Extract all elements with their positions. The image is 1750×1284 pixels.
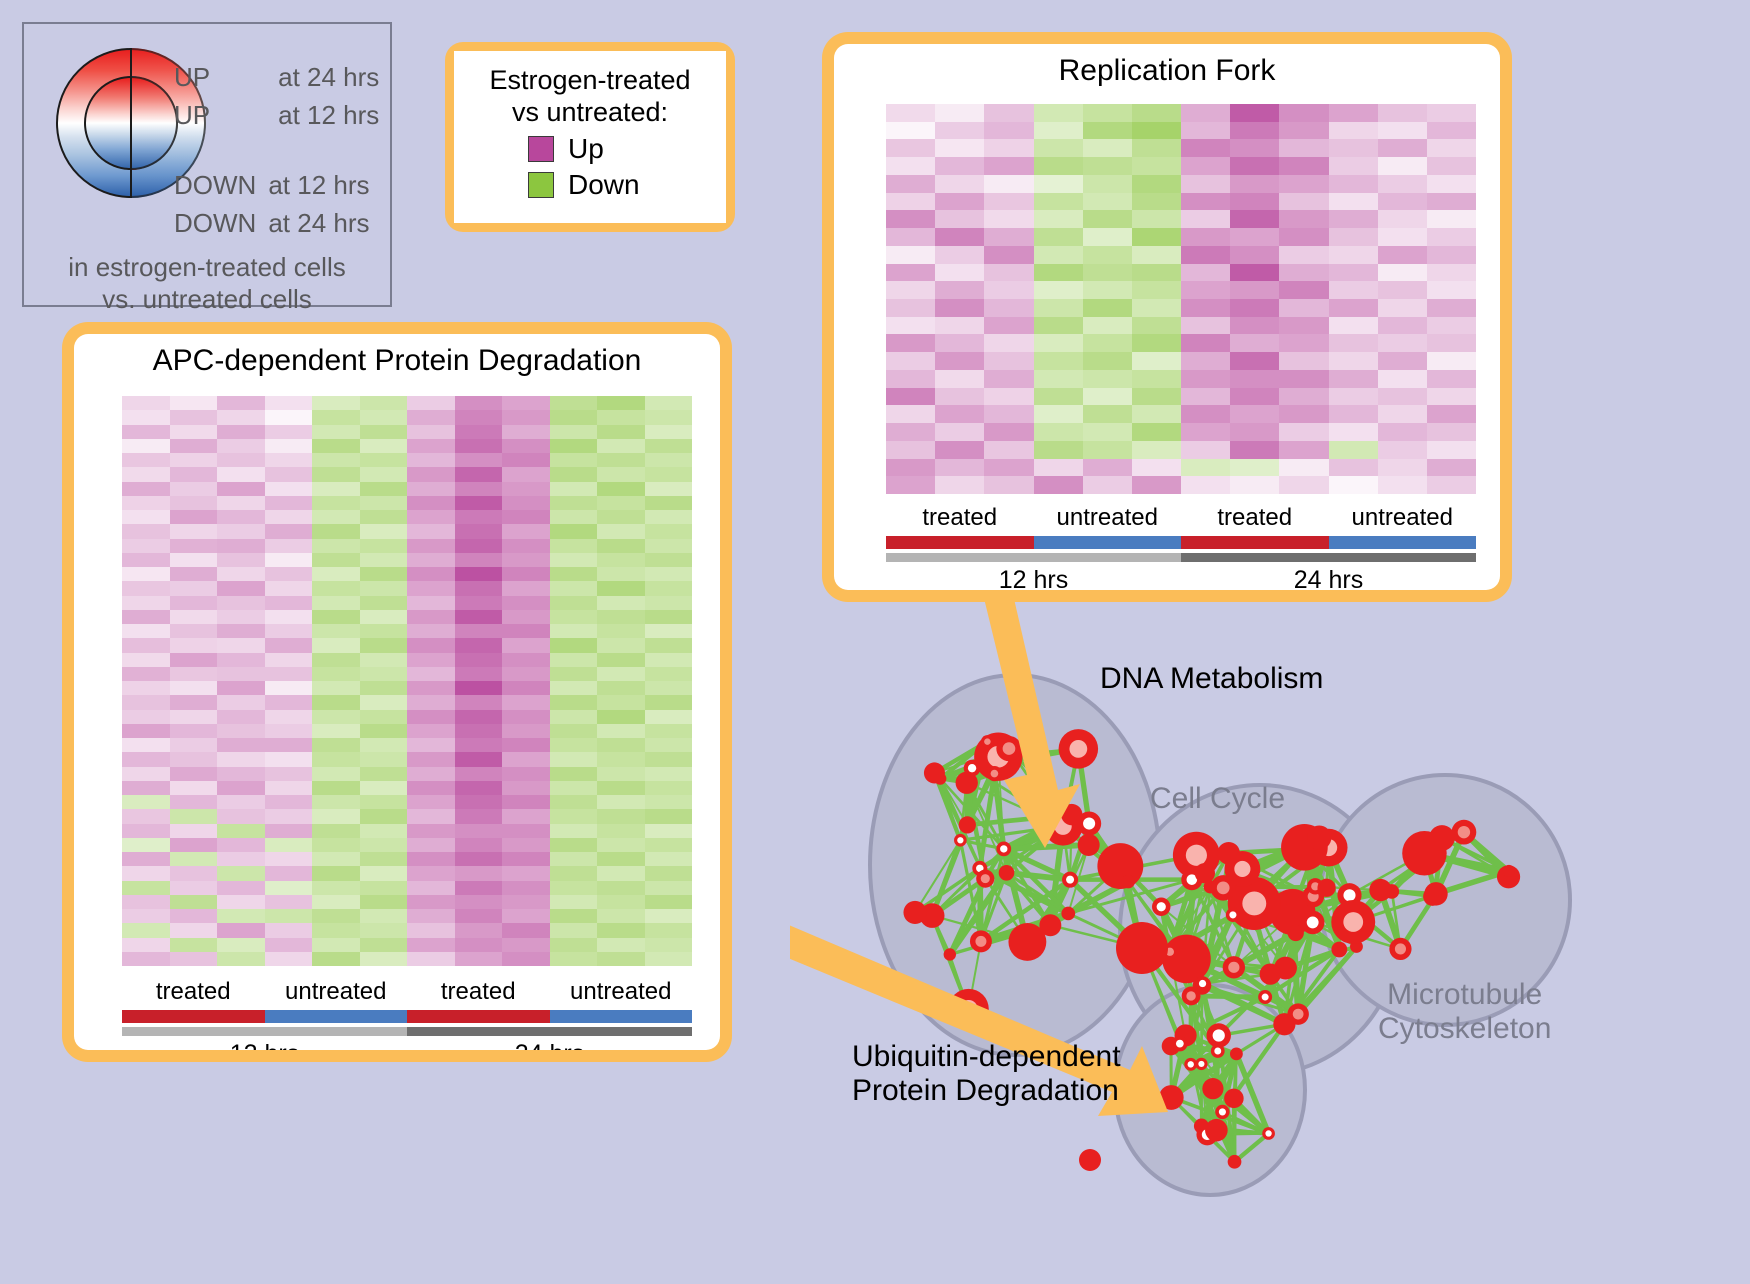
heatmap-cell — [645, 539, 693, 553]
heatmap-cell — [455, 624, 503, 638]
heatmap-cell — [407, 567, 455, 581]
heatmap-cell — [502, 738, 550, 752]
heatmap-cell — [1378, 122, 1427, 140]
network-node[interactable] — [1288, 925, 1304, 941]
heatmap-cell — [597, 809, 645, 823]
network-node[interactable] — [1317, 879, 1335, 897]
heatmap-cell — [597, 952, 645, 966]
heatmap-cell — [360, 781, 408, 795]
network-node[interactable] — [903, 901, 926, 924]
heatmap-cell — [217, 396, 265, 410]
heatmap-cell — [645, 852, 693, 866]
heatmap-cell — [265, 952, 313, 966]
heatmap-cell — [1279, 228, 1328, 246]
heatmap-cell — [1427, 441, 1476, 459]
heatmap-cell — [502, 539, 550, 553]
heatmap-cell — [984, 157, 1033, 175]
heatmap-cell — [645, 624, 693, 638]
heatmap-cell — [984, 388, 1033, 406]
heatmap-cell — [1132, 157, 1181, 175]
heatmap-cell — [1083, 476, 1132, 494]
heatmap-cell — [170, 852, 218, 866]
heatmap-cell — [502, 524, 550, 538]
heatmap-cell — [265, 909, 313, 923]
heatmap-cell — [984, 334, 1033, 352]
heatmap-cell — [1378, 423, 1427, 441]
heatmap-cell — [455, 425, 503, 439]
heatmap-cell — [1279, 193, 1328, 211]
group-bar-segment — [1181, 536, 1329, 549]
heatmap-cell — [597, 795, 645, 809]
network-node-core — [991, 770, 999, 778]
heatmap-cell — [1181, 405, 1230, 423]
heatmap-cell — [217, 809, 265, 823]
heatmap-cell — [935, 423, 984, 441]
heatmap-cell — [1132, 334, 1181, 352]
network-node[interactable] — [1307, 825, 1331, 849]
network-node-core — [1219, 1108, 1226, 1115]
heatmap-cell — [1034, 405, 1083, 423]
heatmap-cell — [407, 809, 455, 823]
heatmap-cell — [1279, 352, 1328, 370]
heatmap-cell — [360, 923, 408, 937]
heatmap-cell — [1279, 370, 1328, 388]
heatmap-cell — [597, 482, 645, 496]
heatmap-cell — [360, 567, 408, 581]
heatmap-cell — [935, 405, 984, 423]
heatmap-cell — [217, 581, 265, 595]
heatmap-cell — [265, 581, 313, 595]
heatmap-cell — [360, 909, 408, 923]
cluster-label-dna-metabolism: DNA Metabolism — [1100, 662, 1323, 696]
heatmap-cell — [935, 299, 984, 317]
heatmap-cell — [645, 938, 693, 952]
network-node[interactable] — [1079, 1149, 1101, 1171]
network-node-core — [1157, 902, 1166, 911]
heatmap-cell — [407, 453, 455, 467]
heatmap-cell — [170, 667, 218, 681]
heatmap-cell — [597, 724, 645, 738]
network-node[interactable] — [1217, 842, 1240, 865]
heatmap-cell — [597, 553, 645, 567]
heatmap-cell — [597, 610, 645, 624]
heatmap-cell — [122, 425, 170, 439]
heatmap-cell — [550, 695, 598, 709]
heatmap-cell — [984, 264, 1033, 282]
heatmap-cell — [1083, 210, 1132, 228]
heatmap-cell — [312, 795, 360, 809]
heatmap-cell — [1132, 423, 1181, 441]
network-node[interactable] — [1228, 1155, 1242, 1169]
heatmap-cell — [265, 781, 313, 795]
heatmap-cell — [170, 610, 218, 624]
heatmap-cell — [1230, 281, 1279, 299]
heatmap-cell — [1034, 281, 1083, 299]
heatmap-cell — [1279, 423, 1328, 441]
heatmap-cell — [217, 425, 265, 439]
heatmap-cell — [645, 795, 693, 809]
heatmap-cell — [312, 881, 360, 895]
heatmap-cell — [170, 938, 218, 952]
heatmap-cell — [170, 795, 218, 809]
heatmap-cell — [265, 767, 313, 781]
heatmap-cell — [502, 567, 550, 581]
heatmap-cell — [170, 410, 218, 424]
heatmap-cell — [597, 581, 645, 595]
heatmap-cell — [217, 724, 265, 738]
heatmap-cell — [1034, 193, 1083, 211]
heatmap-cell — [886, 264, 935, 282]
heatmap-cell — [122, 439, 170, 453]
network-node-core — [1307, 916, 1319, 928]
heatmap-cell — [1230, 193, 1279, 211]
heatmap-cell — [1427, 299, 1476, 317]
heatmap-cell — [886, 175, 935, 193]
heatmap-cell — [122, 581, 170, 595]
network-node[interactable] — [1369, 879, 1391, 901]
heatmap-cell — [935, 317, 984, 335]
heatmap-cell — [1034, 388, 1083, 406]
heatmap-cell — [312, 809, 360, 823]
heatmap-cell — [1378, 405, 1427, 423]
heatmap-cell — [984, 104, 1033, 122]
group-labels-replication: treateduntreatedtreateduntreated — [886, 504, 1476, 532]
network-node[interactable] — [924, 762, 945, 783]
heatmap-cell — [645, 553, 693, 567]
heatmap-cell — [407, 752, 455, 766]
network-node[interactable] — [1423, 887, 1442, 906]
group-bar-segment — [122, 1010, 265, 1023]
heatmap-cell — [1427, 423, 1476, 441]
heatmap-cell — [1230, 476, 1279, 494]
heatmap-cell — [407, 396, 455, 410]
heatmap-cell — [984, 299, 1033, 317]
heatmap-cell — [122, 653, 170, 667]
group-label: treated — [886, 504, 1034, 532]
network-node-core — [1458, 826, 1470, 838]
network-node[interactable] — [999, 865, 1015, 881]
legend-time: at 24 hrs — [268, 208, 369, 239]
down-color-swatch — [528, 172, 554, 198]
heatmap-cell — [217, 510, 265, 524]
time-bar-segment — [122, 1027, 407, 1036]
heatmap-cell — [645, 638, 693, 652]
heatmap-cell — [597, 923, 645, 937]
heatmap-cell — [217, 767, 265, 781]
network-node[interactable] — [959, 816, 976, 833]
heatmap-cell — [984, 281, 1033, 299]
group-label: untreated — [1329, 504, 1477, 532]
heatmap-cell — [122, 781, 170, 795]
heatmap-cell — [550, 667, 598, 681]
heatmap-cell — [502, 952, 550, 966]
heatmap-cell — [645, 667, 693, 681]
heatmap-cell — [1083, 157, 1132, 175]
network-node[interactable] — [1061, 907, 1075, 921]
heatmap-cell — [1279, 405, 1328, 423]
network-node[interactable] — [1503, 865, 1515, 877]
heatmap-cell — [550, 624, 598, 638]
heatmap-cell — [217, 524, 265, 538]
heatmap-cell — [265, 624, 313, 638]
heatmap-cell — [1427, 157, 1476, 175]
heatmap-cell — [550, 581, 598, 595]
heatmap-cell — [265, 524, 313, 538]
heatmap-cell — [455, 881, 503, 895]
heatmap-cell — [1083, 104, 1132, 122]
heatmap-cell — [170, 425, 218, 439]
heatmap-cell — [455, 809, 503, 823]
heatmap-cell — [550, 909, 598, 923]
heatmap-cell — [312, 681, 360, 695]
heatmap-cell — [360, 881, 408, 895]
heatmap-cell — [1378, 317, 1427, 335]
heatmap-cell — [312, 496, 360, 510]
heatmap-cell — [170, 881, 218, 895]
heatmap-cell — [1378, 281, 1427, 299]
group-label: untreated — [550, 978, 693, 1006]
heatmap-cell — [1230, 175, 1279, 193]
legend-row-down-12: DOWNat 12 hrs — [174, 170, 370, 201]
network-node-core — [1198, 1061, 1204, 1067]
heatmap-cell — [1132, 104, 1181, 122]
heatmap-cell — [984, 175, 1033, 193]
network-node[interactable] — [1202, 1078, 1223, 1099]
heatmap-cell — [360, 410, 408, 424]
heatmap-cell — [170, 838, 218, 852]
heatmap-cell — [407, 610, 455, 624]
heatmap-cell — [122, 824, 170, 838]
heatmap-cell — [597, 781, 645, 795]
heatmap-cell — [1378, 157, 1427, 175]
network-node[interactable] — [944, 948, 956, 960]
time-bar-segment — [886, 553, 1181, 562]
heatmap-cell — [550, 410, 598, 424]
heatmap-cell — [1279, 317, 1328, 335]
heatmap-cell — [312, 581, 360, 595]
heatmap-cell — [1034, 122, 1083, 140]
heatmap-cell — [1181, 388, 1230, 406]
heatmap-cell — [360, 809, 408, 823]
heatmap-cell — [1132, 175, 1181, 193]
heatmap-cell — [407, 952, 455, 966]
heatmap-cell — [360, 752, 408, 766]
heatmap-cell — [360, 838, 408, 852]
heatmap-cell — [455, 795, 503, 809]
heatmap-cell — [1279, 246, 1328, 264]
heatmap-cell — [265, 667, 313, 681]
heatmap-cell — [1329, 459, 1378, 477]
heatmap-cell — [217, 410, 265, 424]
heatmap-cell — [597, 938, 645, 952]
heatmap-cell — [217, 610, 265, 624]
heatmap-cell — [1329, 228, 1378, 246]
heatmap-cell — [1230, 122, 1279, 140]
heatmap-cell — [502, 624, 550, 638]
heatmap-cell — [1230, 352, 1279, 370]
heatmap-cell — [502, 439, 550, 453]
heatmap-cell — [550, 923, 598, 937]
heatmap-cell — [597, 425, 645, 439]
heatmap-cell — [1427, 476, 1476, 494]
heatmap-cell — [886, 423, 935, 441]
heatmap-cell — [984, 122, 1033, 140]
heatmap-cell — [984, 246, 1033, 264]
heatmap-cell — [122, 510, 170, 524]
heatmap-cell — [1378, 352, 1427, 370]
heatmap-cell — [407, 482, 455, 496]
heatmap-cell — [1427, 370, 1476, 388]
heatmap-cell — [1427, 352, 1476, 370]
network-node[interactable] — [1331, 942, 1347, 958]
heatmap-cell — [1181, 104, 1230, 122]
heatmap-cell — [1378, 210, 1427, 228]
heatmap-cell — [360, 695, 408, 709]
heatmap-cell — [455, 610, 503, 624]
heatmap-cell — [502, 610, 550, 624]
heatmap-cell — [550, 425, 598, 439]
heatmap-cell — [597, 824, 645, 838]
heatmap-cell — [502, 923, 550, 937]
heatmap-cell — [122, 681, 170, 695]
heatmap-cell — [1378, 388, 1427, 406]
heatmap-cell — [360, 767, 408, 781]
heatmap-cell — [645, 496, 693, 510]
heatmap-cell — [550, 553, 598, 567]
heatmap-cell — [265, 724, 313, 738]
heatmap-cell — [645, 467, 693, 481]
heatmap-cell — [597, 852, 645, 866]
heatmap-cell — [886, 299, 935, 317]
heatmap-cell — [1279, 334, 1328, 352]
legend-footer-line1: in estrogen-treated cells — [24, 252, 390, 284]
heatmap-cell — [170, 724, 218, 738]
heatmap-cell — [170, 695, 218, 709]
heatmap-cell — [1329, 388, 1378, 406]
network-node[interactable] — [1230, 1047, 1243, 1060]
heatmap-cell — [550, 510, 598, 524]
heatmap-cell — [550, 567, 598, 581]
heatmap-cell — [170, 923, 218, 937]
heatmap-cell — [1083, 175, 1132, 193]
heatmap-cell — [455, 467, 503, 481]
heatmap-cell — [1230, 334, 1279, 352]
heatmap-cell — [1329, 210, 1378, 228]
heatmap-cell — [312, 695, 360, 709]
heatmap-cell — [217, 952, 265, 966]
heatmap-cell — [1329, 423, 1378, 441]
heatmap-cell — [1034, 334, 1083, 352]
network-node-core — [1265, 1130, 1271, 1136]
network-node[interactable] — [1204, 880, 1217, 893]
network-node-core — [1214, 1048, 1221, 1055]
network-node-core — [1228, 962, 1239, 973]
heatmap-cell — [170, 909, 218, 923]
heatmap-cell — [265, 923, 313, 937]
heatmap-cell — [984, 476, 1033, 494]
heatmap-replication-fork — [886, 104, 1476, 494]
heatmap-cell — [1230, 210, 1279, 228]
cluster-label-cell-cycle: Cell Cycle — [1150, 782, 1285, 816]
network-node[interactable] — [1097, 843, 1143, 889]
heatmap-cell — [645, 681, 693, 695]
heatmap-cell — [1034, 299, 1083, 317]
network-node-core — [984, 738, 990, 744]
heatmap-cell — [597, 567, 645, 581]
heatmap-cell — [217, 496, 265, 510]
heatmap-cell — [502, 553, 550, 567]
heatmap-cell — [407, 824, 455, 838]
heatmap-cell — [1181, 441, 1230, 459]
network-node[interactable] — [1205, 1119, 1228, 1142]
heatmap-cell — [502, 809, 550, 823]
heatmap-cell — [1230, 228, 1279, 246]
group-bar-segment — [407, 1010, 550, 1023]
heatmap-cell — [407, 467, 455, 481]
heatmap-cell — [886, 157, 935, 175]
heatmap-cell — [407, 909, 455, 923]
network-node[interactable] — [1260, 963, 1281, 984]
heatmap-cell — [407, 738, 455, 752]
heatmap-cell — [935, 388, 984, 406]
up-label: Up — [568, 133, 604, 165]
heatmap-cell — [360, 795, 408, 809]
network-node[interactable] — [1078, 834, 1100, 856]
heatmap-cell — [170, 653, 218, 667]
heatmap-cell — [1132, 441, 1181, 459]
panel-title-apc: APC-dependent Protein Degradation — [74, 334, 720, 378]
network-node-core — [957, 837, 963, 843]
network-node-core — [981, 874, 990, 883]
heatmap-cell — [935, 476, 984, 494]
network-node[interactable] — [1116, 922, 1168, 974]
heatmap-cell — [1329, 264, 1378, 282]
heatmap-cell — [502, 752, 550, 766]
heatmap-cell — [407, 838, 455, 852]
heatmap-cell — [1034, 139, 1083, 157]
heatmap-cell — [502, 710, 550, 724]
network-node[interactable] — [1039, 914, 1061, 936]
heatmap-cell — [265, 738, 313, 752]
heatmap-cell — [265, 695, 313, 709]
network-node-core — [1234, 861, 1250, 877]
heatmap-cell — [265, 396, 313, 410]
network-node-core — [1217, 881, 1230, 894]
heatmap-cell — [502, 724, 550, 738]
heatmap-cell — [1427, 104, 1476, 122]
network-node[interactable] — [1224, 1089, 1244, 1109]
heatmap-cell — [1427, 228, 1476, 246]
heatmap-cell — [597, 653, 645, 667]
heatmap-cell — [265, 638, 313, 652]
heatmap-cell — [1378, 175, 1427, 193]
network-node[interactable] — [1429, 825, 1455, 851]
network-node[interactable] — [1195, 863, 1215, 883]
heatmap-cell — [312, 909, 360, 923]
heatmap-cell — [550, 524, 598, 538]
heatmap-cell — [502, 482, 550, 496]
heatmap-cell — [1083, 228, 1132, 246]
heatmap-cell — [312, 567, 360, 581]
heatmap-cell — [597, 909, 645, 923]
heatmap-cell — [360, 467, 408, 481]
group-label: untreated — [1034, 504, 1182, 532]
group-labels-apc: treateduntreatedtreateduntreated — [122, 978, 692, 1006]
network-node[interactable] — [1122, 875, 1135, 888]
time-label: 24 hrs — [1181, 566, 1476, 590]
heatmap-cell — [1132, 405, 1181, 423]
network-node-core — [1262, 994, 1269, 1001]
